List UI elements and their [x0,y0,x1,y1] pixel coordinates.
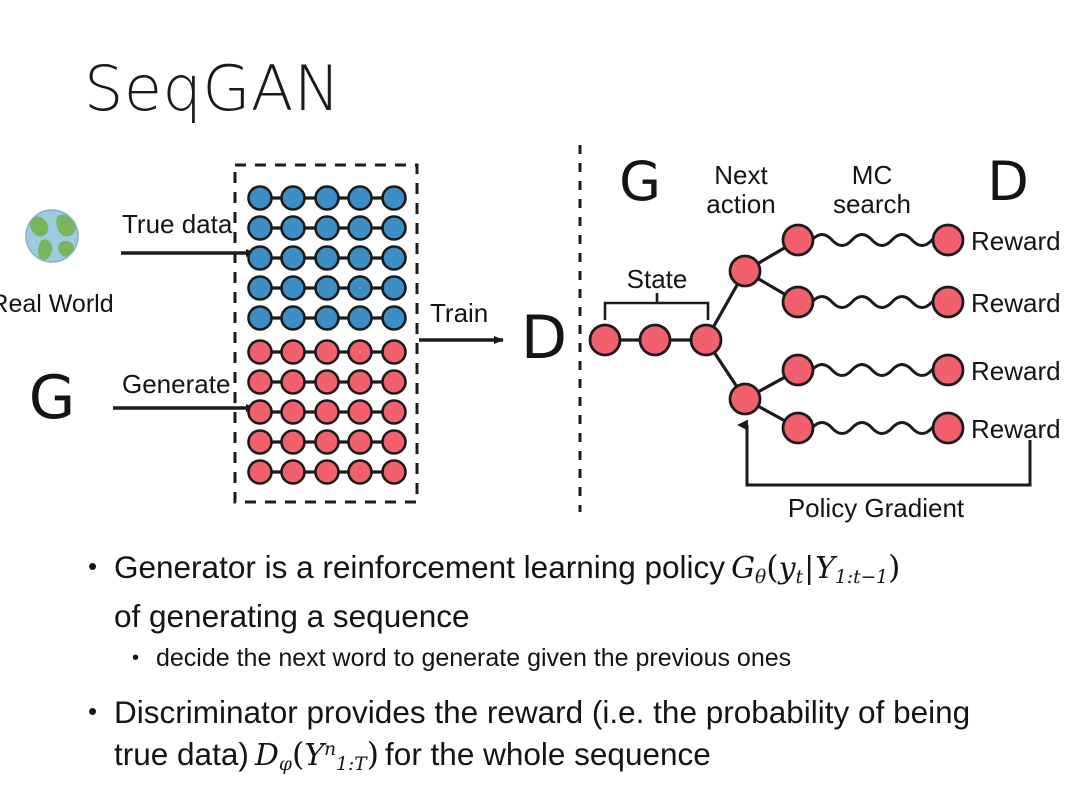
train-label: Train [430,298,488,328]
header-g-label: G [619,150,661,213]
sequence-row [249,371,406,394]
sequence-row [249,247,406,270]
mc-search-node [783,355,813,385]
bullet-decide-next-word: decide the next word to generate given t… [84,641,1024,675]
earth-globe-icon [26,210,78,262]
sequence-row [249,461,406,484]
generator-policy-formula: Gθ(yt|Y1:t−1) [731,551,900,586]
reward-node [933,225,963,255]
bullet-discriminator-text-after: for the whole sequence [385,736,711,772]
mc-wave-2 [812,297,952,308]
sequence-row [249,187,406,210]
reward-node [933,287,963,317]
bullet-generator-text-before: Generator is a reinforcement learning po… [114,549,725,585]
sequence-row [249,431,406,454]
state-node [691,325,721,355]
sequence-row [249,217,406,240]
mc-wave-4 [812,423,952,434]
next-action-node [730,384,760,414]
discriminator-reward-formula: Dφ(Yn1:T) [255,738,379,773]
state-bracket [605,293,708,320]
generator-letter: G [29,363,76,433]
reward-label: Reward [971,356,1061,386]
header-next-action-line1: Next [714,160,768,190]
reward-label: Reward [971,288,1061,318]
right-panel-headers: G Next action MC search D [619,150,1029,219]
mc-search-node [783,287,813,317]
mc-wave-3 [812,365,952,376]
reward-labels: Reward Reward Reward Reward [971,226,1061,444]
mc-wave-1 [812,235,952,246]
state-node [640,325,670,355]
reward-node [933,413,963,443]
state-node [590,325,620,355]
real-world-label: Real World [0,290,114,318]
header-next-action-line2: action [706,189,775,219]
header-mc-search-line2: search [833,189,911,219]
header-mc-search-line1: MC [852,160,892,190]
true-data-sequences [249,187,406,330]
state-bracket-group: State [605,264,708,320]
generate-label: Generate [122,369,230,399]
train-arrow-group: Train D [419,298,567,373]
sequence-row [249,277,406,300]
seqgan-architecture-figure: Real World True data G Generate [0,140,1080,525]
bullet-generator-text-after: of generating a sequence [114,598,470,634]
state-label: State [627,264,688,294]
bullet-generator: Generator is a reinforcement learning po… [84,548,1024,635]
sequence-row [249,401,406,424]
mc-search-node [783,225,813,255]
generated-sequences [249,341,406,484]
sequence-row [249,341,406,364]
reward-node [933,355,963,385]
mc-search-node [783,413,813,443]
tree-nodes [590,225,963,443]
bullet-discriminator: Discriminator provides the reward (i.e. … [84,693,1024,784]
generator-input-group: G Generate [29,363,255,433]
sequence-row [249,307,406,330]
real-world-group: Real World [0,210,114,318]
reward-label: Reward [971,226,1061,256]
header-d-label: D [987,150,1029,213]
policy-gradient-label: Policy Gradient [788,493,965,523]
page-title: SeqGAN [84,58,341,120]
mc-search-wavy-lines [812,235,952,434]
discriminator-letter: D [521,303,567,373]
bullet-list: Generator is a reinforcement learning po… [84,548,1024,789]
next-action-node [730,256,760,286]
true-data-label: True data [122,209,233,239]
reward-label: Reward [971,414,1061,444]
